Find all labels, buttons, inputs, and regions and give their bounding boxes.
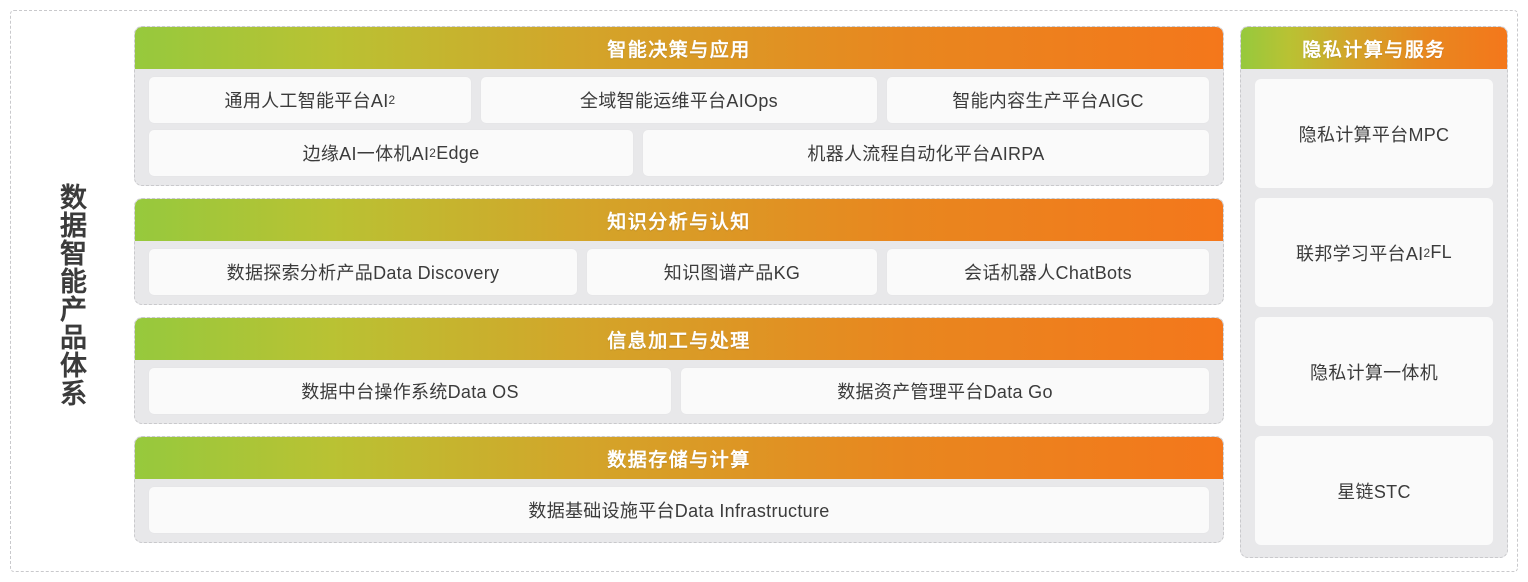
product-tile-aiops-platform[interactable]: 全域智能运维平台AIOps — [481, 77, 877, 123]
product-tile-data-go[interactable]: 数据资产管理平台Data Go — [681, 368, 1209, 414]
product-tile-agi-platform[interactable]: 通用人工智能平台AI2 — [149, 77, 471, 123]
product-tile-federated-learning[interactable]: 联邦学习平台AI2 FL — [1255, 198, 1493, 307]
group-header-privacy-computing: 隐私计算与服务 — [1241, 27, 1507, 69]
product-tile-aigc-platform[interactable]: 智能内容生产平台AIGC — [887, 77, 1209, 123]
tile-row: 数据探索分析产品Data Discovery 知识图谱产品KG 会话机器人Cha… — [149, 249, 1209, 295]
group-header-information-processing: 信息加工与处理 — [135, 318, 1223, 360]
product-tile-chatbots[interactable]: 会话机器人ChatBots — [887, 249, 1209, 295]
tile-row: 数据中台操作系统Data OS 数据资产管理平台Data Go — [149, 368, 1209, 414]
tile-row: 边缘AI一体机AI2 Edge 机器人流程自动化平台AIRPA — [149, 130, 1209, 176]
group-body-privacy-computing: 隐私计算平台MPC 联邦学习平台AI2 FL 隐私计算一体机 星链STC — [1241, 69, 1507, 557]
product-tile-airpa-platform[interactable]: 机器人流程自动化平台AIRPA — [643, 130, 1209, 176]
product-tile-knowledge-graph[interactable]: 知识图谱产品KG — [587, 249, 877, 295]
product-tile-starchain-stc[interactable]: 星链STC — [1255, 436, 1493, 545]
product-tile-data-infrastructure[interactable]: 数据基础设施平台Data Infrastructure — [149, 487, 1209, 533]
tile-row: 数据基础设施平台Data Infrastructure — [149, 487, 1209, 533]
group-body-knowledge-analysis: 数据探索分析产品Data Discovery 知识图谱产品KG 会话机器人Cha… — [135, 241, 1223, 304]
group-knowledge-analysis: 知识分析与认知 数据探索分析产品Data Discovery 知识图谱产品KG … — [134, 198, 1224, 305]
group-intelligent-decision: 智能决策与应用 通用人工智能平台AI2 全域智能运维平台AIOps 智能内容生产… — [134, 26, 1224, 186]
group-header-data-storage-compute: 数据存储与计算 — [135, 437, 1223, 479]
main-column: 智能决策与应用 通用人工智能平台AI2 全域智能运维平台AIOps 智能内容生产… — [134, 26, 1224, 558]
diagram-vertical-title: 数据智能产品体系 — [42, 150, 98, 440]
product-tile-edge-ai-appliance[interactable]: 边缘AI一体机AI2 Edge — [149, 130, 633, 176]
product-system-diagram: 数据智能产品体系 智能决策与应用 通用人工智能平台AI2 全域智能运维平台AIO… — [0, 0, 1528, 582]
product-tile-data-os[interactable]: 数据中台操作系统Data OS — [149, 368, 671, 414]
group-body-information-processing: 数据中台操作系统Data OS 数据资产管理平台Data Go — [135, 360, 1223, 423]
group-information-processing: 信息加工与处理 数据中台操作系统Data OS 数据资产管理平台Data Go — [134, 317, 1224, 424]
tile-row: 通用人工智能平台AI2 全域智能运维平台AIOps 智能内容生产平台AIGC — [149, 77, 1209, 123]
group-data-storage-compute: 数据存储与计算 数据基础设施平台Data Infrastructure — [134, 436, 1224, 543]
product-tile-mpc-platform[interactable]: 隐私计算平台MPC — [1255, 79, 1493, 188]
group-header-knowledge-analysis: 知识分析与认知 — [135, 199, 1223, 241]
group-body-data-storage-compute: 数据基础设施平台Data Infrastructure — [135, 479, 1223, 542]
group-privacy-computing: 隐私计算与服务 隐私计算平台MPC 联邦学习平台AI2 FL 隐私计算一体机 星… — [1240, 26, 1508, 558]
product-tile-privacy-appliance[interactable]: 隐私计算一体机 — [1255, 317, 1493, 426]
product-tile-data-discovery[interactable]: 数据探索分析产品Data Discovery — [149, 249, 577, 295]
group-body-intelligent-decision: 通用人工智能平台AI2 全域智能运维平台AIOps 智能内容生产平台AIGC 边… — [135, 69, 1223, 185]
group-header-intelligent-decision: 智能决策与应用 — [135, 27, 1223, 69]
